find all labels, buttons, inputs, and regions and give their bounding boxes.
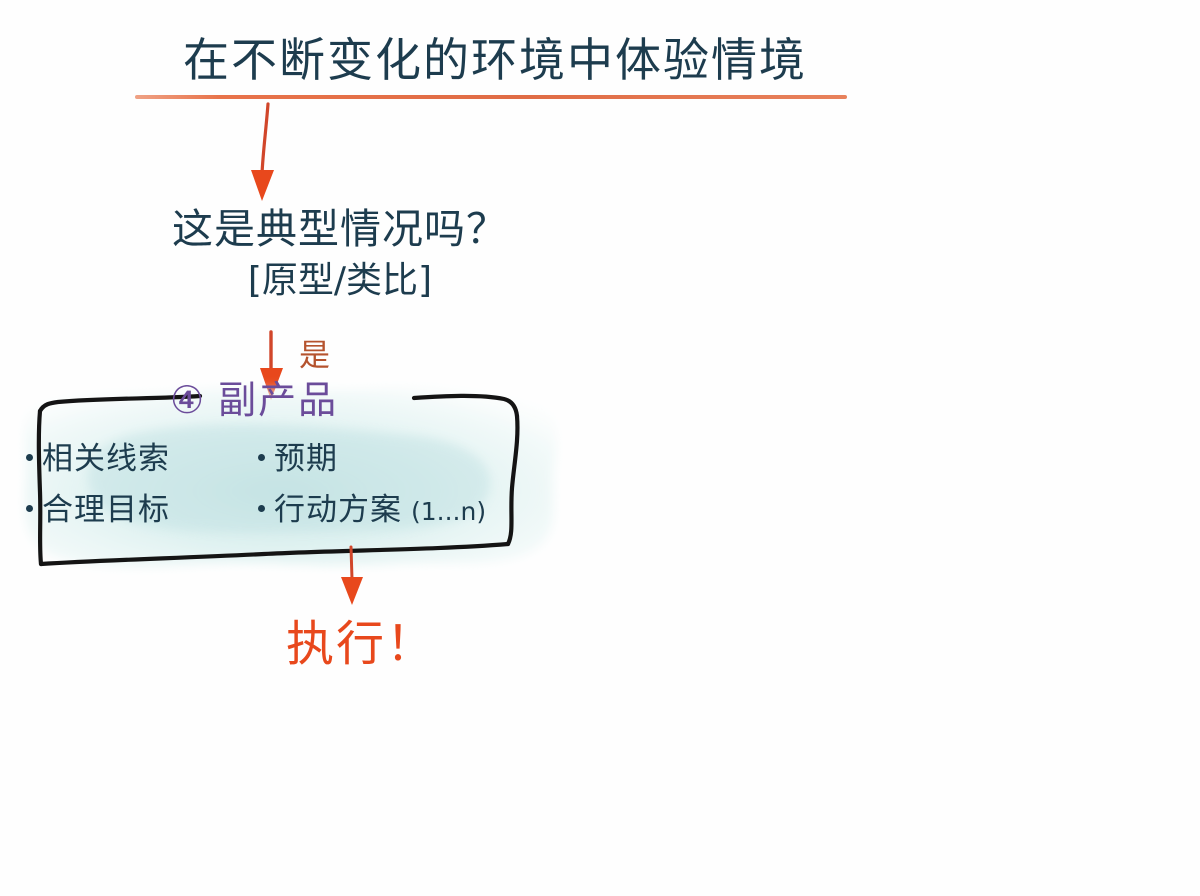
question-node: 这是典型情况吗？ [原型/类比] [100,205,580,303]
question-line-2: [原型/类比] [100,258,580,303]
list-item: 行动方案 (1...n) [258,495,486,526]
list-item: 预期 [258,444,486,475]
title-text: 在不断变化的环境中体验情境 [135,34,855,87]
byproduct-box-heading: ④ 副产品 [170,381,338,419]
outcome-text: 执行！ [286,604,436,674]
list-item-label: 相关线索 [42,444,170,475]
byproduct-box-title: 副产品 [218,381,338,419]
page-title: 在不断变化的环境中体验情境 [135,34,855,87]
arrow-title-to-question [230,100,340,210]
bullet-dot-icon [258,454,265,461]
bullet-column-left: 相关线索 合理目标 [26,444,170,546]
list-item: 合理目标 [26,495,170,526]
list-item-label: 行动方案 [274,495,402,526]
diagram-canvas: 在不断变化的环境中体验情境 这是典型情况吗？ [原型/类比] 是 [0,0,1200,896]
bullet-column-right: 预期 行动方案 (1...n) [258,444,486,546]
bullet-dot-icon [26,454,33,461]
list-item-label: 预期 [274,444,338,475]
question-line-1: 这是典型情况吗？ [100,205,580,254]
edge-label-yes: 是 [299,330,331,375]
list-item-label: 合理目标 [42,495,170,526]
list-item: 相关线索 [26,444,170,475]
bullet-dot-icon [258,505,265,512]
title-underline [135,95,847,99]
circled-number-icon: ④ [170,381,204,419]
bullet-dot-icon [26,505,33,512]
list-item-suffix: (1...n) [411,499,486,524]
